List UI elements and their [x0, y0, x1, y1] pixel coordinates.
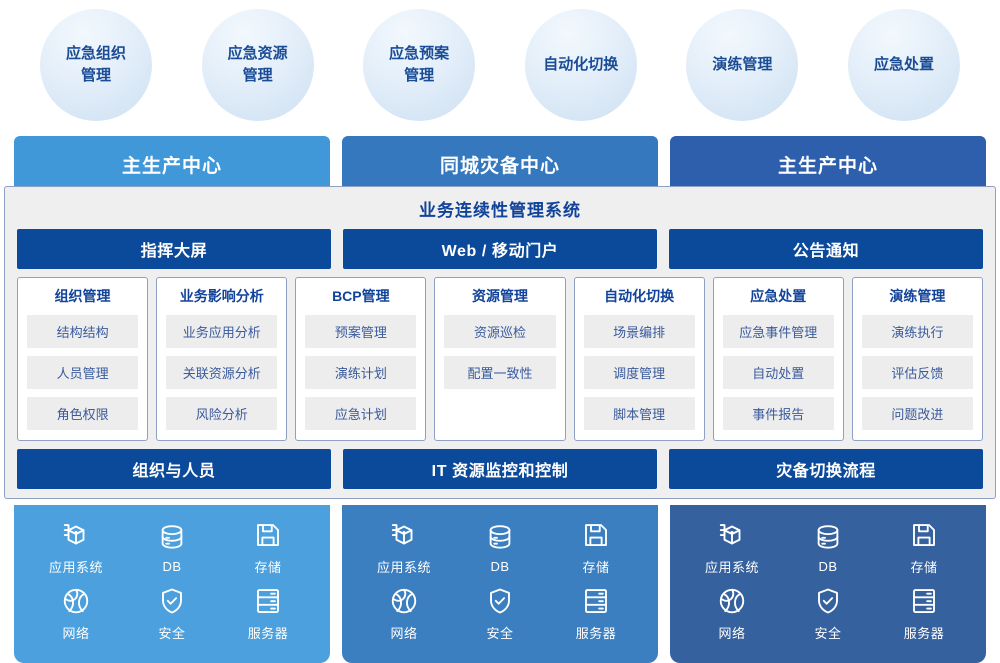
- server-icon: [909, 586, 939, 616]
- infra-item-label: 存储: [254, 557, 281, 576]
- module-card-title: 应急处置: [723, 286, 834, 306]
- infra-item-security[interactable]: 安全: [452, 586, 548, 642]
- capability-circle-emergency-plan[interactable]: 应急预案管理: [363, 9, 475, 121]
- capability-circles-row: 应急组织管理 应急资源管理 应急预案管理 自动化切换 演练管理 应急处置: [0, 0, 1000, 130]
- data-center-header-label: 主生产中心: [778, 151, 878, 178]
- band-label: Web / 移动门户: [442, 237, 559, 261]
- infrastructure-panel-primary: 应用系统 DB 存储 网络 安全 服务器: [14, 505, 330, 663]
- module-item-chip[interactable]: 演练执行: [862, 315, 973, 348]
- band-command-screen[interactable]: 指挥大屏: [17, 229, 331, 269]
- band-web-mobile-portal[interactable]: Web / 移动门户: [343, 229, 657, 269]
- capability-circle-label: 应急组织管理: [66, 43, 126, 87]
- module-card-title: 资源管理: [444, 286, 555, 306]
- capability-circle-label: 演练管理: [712, 54, 772, 76]
- module-item-chip[interactable]: 关联资源分析: [166, 356, 277, 389]
- band-label: 公告通知: [793, 237, 859, 261]
- security-shield-icon: [485, 586, 515, 616]
- server-icon: [253, 586, 283, 616]
- module-item-chip[interactable]: 资源巡检: [444, 315, 555, 348]
- system-panel-title: 业务连续性管理系统: [5, 187, 995, 229]
- security-shield-icon: [813, 586, 843, 616]
- module-item-chip[interactable]: 应急事件管理: [723, 315, 834, 348]
- capability-circle-label: 应急预案管理: [389, 43, 449, 87]
- band-it-resource-monitoring[interactable]: IT 资源监控和控制: [343, 449, 657, 489]
- infra-item-database[interactable]: DB: [780, 522, 876, 574]
- module-card-title: 自动化切换: [584, 286, 695, 306]
- capability-circle-label: 自动化切换: [543, 54, 618, 76]
- lower-band-row: 组织与人员 IT 资源监控和控制 灾备切换流程: [5, 449, 995, 489]
- infrastructure-panel-primary-2: 应用系统 DB 存储 网络 安全 服务器: [670, 505, 986, 663]
- network-icon: [717, 586, 747, 616]
- capability-circle-emergency-resource[interactable]: 应急资源管理: [202, 9, 314, 121]
- module-item-chip[interactable]: 应急计划: [305, 397, 416, 430]
- infra-item-security[interactable]: 安全: [780, 586, 876, 642]
- infra-item-security[interactable]: 安全: [124, 586, 220, 642]
- module-card-automated-switchover[interactable]: 自动化切换 场景编排 调度管理 脚本管理: [574, 277, 705, 441]
- module-item-chip[interactable]: 风险分析: [166, 397, 277, 430]
- infra-item-server[interactable]: 服务器: [876, 586, 972, 642]
- infra-item-label: 网络: [718, 623, 745, 642]
- infra-item-database[interactable]: DB: [124, 522, 220, 574]
- infra-item-app-system[interactable]: 应用系统: [28, 520, 124, 576]
- bcm-system-panel: 业务连续性管理系统 指挥大屏 Web / 移动门户 公告通知 组织管理 结构结构…: [4, 186, 996, 499]
- module-card-emergency-response[interactable]: 应急处置 应急事件管理 自动处置 事件报告: [713, 277, 844, 441]
- infra-item-label: 安全: [158, 623, 185, 642]
- module-item-chip[interactable]: 脚本管理: [584, 397, 695, 430]
- infra-item-label: 安全: [486, 623, 513, 642]
- infra-item-label: 应用系统: [705, 557, 759, 576]
- module-cards-row: 组织管理 结构结构 人员管理 角色权限 业务影响分析 业务应用分析 关联资源分析…: [5, 269, 995, 441]
- infra-item-label: 安全: [814, 623, 841, 642]
- infrastructure-panel-metro-dr: 应用系统 DB 存储 网络 安全 服务器: [342, 505, 658, 663]
- module-item-chip[interactable]: 自动处置: [723, 356, 834, 389]
- module-item-chip[interactable]: 预案管理: [305, 315, 416, 348]
- module-item-chip[interactable]: 演练计划: [305, 356, 416, 389]
- module-card-resource-management[interactable]: 资源管理 资源巡检 配置一致性: [434, 277, 565, 441]
- module-card-title: BCP管理: [305, 286, 416, 306]
- server-icon: [581, 586, 611, 616]
- infra-item-network[interactable]: 网络: [356, 586, 452, 642]
- database-icon: [813, 522, 843, 552]
- capability-circle-drill-management[interactable]: 演练管理: [686, 9, 798, 121]
- infra-item-label: DB: [818, 559, 837, 574]
- infra-item-app-system[interactable]: 应用系统: [684, 520, 780, 576]
- module-item-chip[interactable]: 业务应用分析: [166, 315, 277, 348]
- database-icon: [157, 522, 187, 552]
- infra-item-label: 网络: [62, 623, 89, 642]
- band-label: 指挥大屏: [141, 237, 207, 261]
- app-system-icon: [717, 520, 747, 550]
- storage-icon: [581, 520, 611, 550]
- module-card-organization-management[interactable]: 组织管理 结构结构 人员管理 角色权限: [17, 277, 148, 441]
- network-icon: [61, 586, 91, 616]
- module-card-title: 业务影响分析: [166, 286, 277, 306]
- infra-item-label: 服务器: [576, 623, 617, 642]
- module-card-business-impact-analysis[interactable]: 业务影响分析 业务应用分析 关联资源分析 风险分析: [156, 277, 287, 441]
- module-card-drill-management[interactable]: 演练管理 演练执行 评估反馈 问题改进: [852, 277, 983, 441]
- infra-item-label: 网络: [390, 623, 417, 642]
- upper-band-row: 指挥大屏 Web / 移动门户 公告通知: [5, 229, 995, 269]
- infra-item-server[interactable]: 服务器: [548, 586, 644, 642]
- storage-icon: [909, 520, 939, 550]
- data-center-header-label: 主生产中心: [122, 151, 222, 178]
- infra-item-label: 存储: [910, 557, 937, 576]
- band-organization-and-personnel[interactable]: 组织与人员: [17, 449, 331, 489]
- network-icon: [389, 586, 419, 616]
- infra-item-network[interactable]: 网络: [684, 586, 780, 642]
- infra-item-storage[interactable]: 存储: [548, 520, 644, 576]
- data-center-header-primary[interactable]: 主生产中心: [14, 136, 330, 192]
- infra-item-app-system[interactable]: 应用系统: [356, 520, 452, 576]
- module-card-title: 组织管理: [27, 286, 138, 306]
- module-item-chip[interactable]: 评估反馈: [862, 356, 973, 389]
- data-center-header-label: 同城灾备中心: [440, 151, 560, 178]
- module-card-title: 演练管理: [862, 286, 973, 306]
- infra-item-label: 服务器: [904, 623, 945, 642]
- data-center-header-primary-2[interactable]: 主生产中心: [670, 136, 986, 192]
- infra-item-storage[interactable]: 存储: [220, 520, 316, 576]
- app-system-icon: [389, 520, 419, 550]
- data-center-headers-row: 主生产中心 同城灾备中心 主生产中心: [0, 136, 1000, 192]
- infra-item-label: DB: [490, 559, 509, 574]
- capability-circle-emergency-organization[interactable]: 应急组织管理: [40, 9, 152, 121]
- module-item-chip[interactable]: 结构结构: [27, 315, 138, 348]
- band-announcement-notice[interactable]: 公告通知: [669, 229, 983, 269]
- infra-item-label: 存储: [582, 557, 609, 576]
- infra-item-network[interactable]: 网络: [28, 586, 124, 642]
- infra-item-label: 服务器: [248, 623, 289, 642]
- security-shield-icon: [157, 586, 187, 616]
- infra-item-label: 应用系统: [49, 557, 103, 576]
- module-item-chip[interactable]: 角色权限: [27, 397, 138, 430]
- infra-item-label: DB: [162, 559, 181, 574]
- module-item-chip[interactable]: 事件报告: [723, 397, 834, 430]
- data-center-header-metro-dr[interactable]: 同城灾备中心: [342, 136, 658, 192]
- band-label: 组织与人员: [132, 457, 215, 481]
- capability-circle-automated-switchover[interactable]: 自动化切换: [525, 9, 637, 121]
- infra-item-database[interactable]: DB: [452, 522, 548, 574]
- infrastructure-row: 应用系统 DB 存储 网络 安全 服务器 应用系统 DB: [0, 505, 1000, 663]
- module-item-chip[interactable]: 问题改进: [862, 397, 973, 430]
- infra-item-label: 应用系统: [377, 557, 431, 576]
- module-item-chip[interactable]: 配置一致性: [444, 356, 555, 389]
- storage-icon: [253, 520, 283, 550]
- band-label: IT 资源监控和控制: [432, 457, 569, 481]
- app-system-icon: [61, 520, 91, 550]
- capability-circle-label: 应急处置: [874, 54, 934, 76]
- database-icon: [485, 522, 515, 552]
- module-item-chip[interactable]: 人员管理: [27, 356, 138, 389]
- capability-circle-emergency-response[interactable]: 应急处置: [848, 9, 960, 121]
- band-label: 灾备切换流程: [776, 457, 876, 481]
- infra-item-storage[interactable]: 存储: [876, 520, 972, 576]
- capability-circle-label: 应急资源管理: [228, 43, 288, 87]
- module-card-bcp-management[interactable]: BCP管理 预案管理 演练计划 应急计划: [295, 277, 426, 441]
- module-item-chip[interactable]: 调度管理: [584, 356, 695, 389]
- band-dr-switchover-process[interactable]: 灾备切换流程: [669, 449, 983, 489]
- module-item-chip[interactable]: 场景编排: [584, 315, 695, 348]
- infra-item-server[interactable]: 服务器: [220, 586, 316, 642]
